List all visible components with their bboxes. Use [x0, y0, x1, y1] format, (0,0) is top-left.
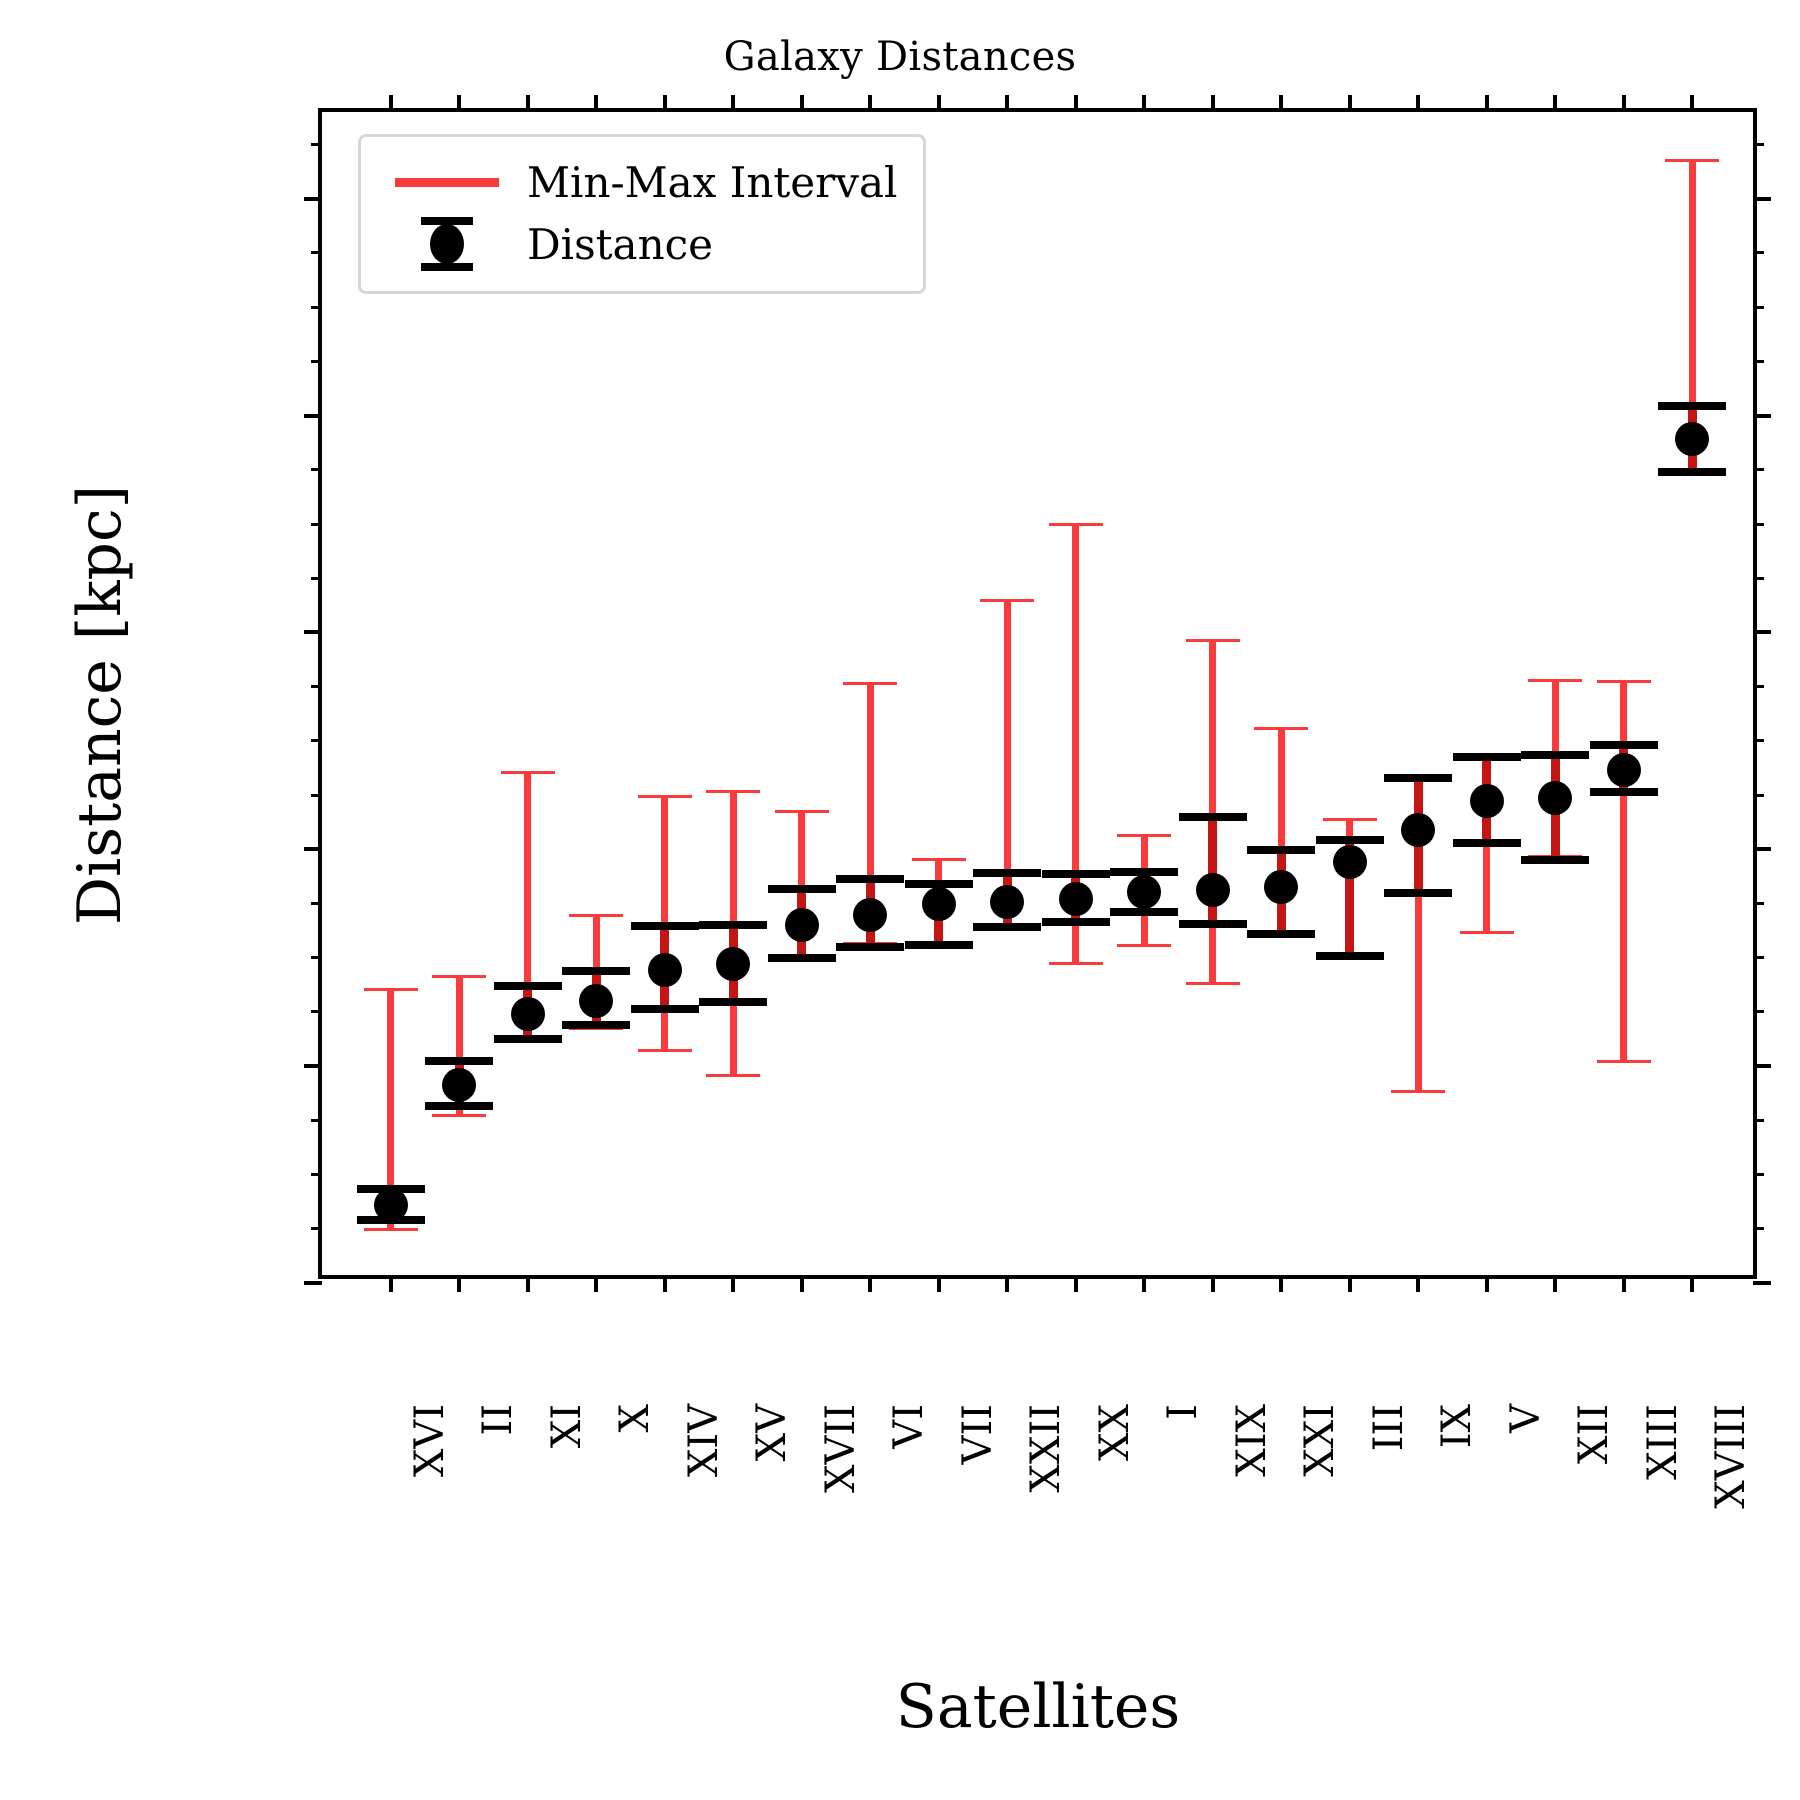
distance-errorbar-lower-cap [1316, 952, 1384, 960]
minmax-upper-cap [1254, 727, 1308, 730]
minmax-upper-cap [1665, 159, 1719, 162]
distance-errorbar-lower-cap [425, 1102, 493, 1110]
distance-errorbar-upper-cap [1179, 813, 1247, 821]
x-tick-label: IX [1434, 1404, 1480, 1448]
x-tick-label: XIX [1229, 1404, 1275, 1477]
legend-label-distance: Distance [511, 220, 713, 269]
distance-errorbar-lower-cap [1521, 856, 1589, 864]
distance-errorbar-upper-cap [768, 885, 836, 893]
distance-point [990, 885, 1024, 919]
x-tick-top [800, 95, 804, 112]
x-tick-top [389, 95, 393, 112]
y-tick [311, 902, 322, 905]
distance-errorbar-lower-cap [562, 1021, 630, 1029]
distance-errorbar-lower-cap [1247, 930, 1315, 938]
y-tick [304, 630, 322, 634]
minmax-upper-cap [1597, 680, 1651, 683]
minmax-upper-cap [501, 771, 555, 774]
minmax-line-icon [383, 151, 511, 213]
minmax-upper-cap [980, 599, 1034, 602]
x-tick-top [1005, 95, 1009, 112]
x-tick [1416, 1275, 1420, 1292]
y-tick-right [1753, 847, 1771, 851]
distance-point [442, 1068, 476, 1102]
x-tick [1622, 1275, 1626, 1292]
distance-errorbar-icon [383, 213, 511, 275]
minmax-upper-cap [569, 914, 623, 917]
y-tick-right [1753, 1173, 1764, 1176]
distance-errorbar-upper-cap [1042, 870, 1110, 878]
x-tick-top [731, 95, 735, 112]
y-tick-right [1753, 1064, 1771, 1068]
y-tick-right [1753, 1281, 1771, 1285]
distance-errorbar-upper-cap [1316, 836, 1384, 844]
x-tick-top [1142, 95, 1146, 112]
minmax-upper-cap [638, 795, 692, 798]
x-tick-label: XVIII [1708, 1404, 1754, 1509]
y-tick [311, 739, 322, 742]
x-tick [868, 1275, 872, 1292]
x-tick-label: XX [1092, 1404, 1138, 1461]
distance-point [1196, 873, 1230, 907]
y-tick-right [1753, 739, 1764, 742]
x-tick-top [868, 95, 872, 112]
plot-area: Min-Max Interval Distance 40060080010001… [318, 108, 1757, 1279]
y-tick-right [1753, 468, 1764, 471]
distance-point [1401, 813, 1435, 847]
distance-errorbar-lower-cap [905, 941, 973, 949]
y-tick-right [1753, 251, 1764, 254]
x-tick [1690, 1275, 1694, 1292]
x-tick-top [457, 95, 461, 112]
distance-point [1059, 882, 1093, 916]
distance-errorbar-lower-cap [1179, 920, 1247, 928]
x-tick-top [937, 95, 941, 112]
minmax-lower-cap [432, 1114, 486, 1117]
y-tick-right [1753, 794, 1764, 797]
y-tick [311, 1227, 322, 1230]
distance-errorbar-lower-cap [1110, 908, 1178, 916]
y-tick [304, 197, 322, 201]
x-tick-label: III [1366, 1404, 1412, 1451]
minmax-upper-cap [1528, 679, 1582, 682]
y-tick [311, 523, 322, 526]
y-tick [311, 360, 322, 363]
distance-point [579, 984, 613, 1018]
x-tick-top [1211, 95, 1215, 112]
y-tick-right [1753, 414, 1771, 418]
distance-point [374, 1188, 408, 1222]
y-tick-right [1753, 1227, 1764, 1230]
minmax-upper-cap [364, 988, 418, 991]
y-tick [311, 306, 322, 309]
minmax-lower-cap [364, 1228, 418, 1231]
x-tick-label: X [612, 1404, 658, 1432]
x-tick [1074, 1275, 1078, 1292]
x-tick [731, 1275, 735, 1292]
distance-point [1675, 422, 1709, 456]
minmax-interval-line [1620, 680, 1627, 1063]
minmax-upper-cap [775, 810, 829, 813]
x-tick-label: VI [886, 1404, 932, 1449]
y-tick [311, 1173, 322, 1176]
y-tick [304, 847, 322, 851]
page-title: Galaxy Distances [0, 34, 1800, 80]
distance-point [716, 947, 750, 981]
y-tick [311, 468, 322, 471]
y-tick-right [1753, 143, 1764, 146]
distance-errorbar-lower-cap [631, 1005, 699, 1013]
distance-point [1607, 753, 1641, 787]
x-tick-label: XXI [1297, 1404, 1343, 1477]
x-tick-label: V [1503, 1404, 1549, 1433]
distance-point [1333, 845, 1367, 879]
y-tick-right [1753, 306, 1764, 309]
x-tick [1348, 1275, 1352, 1292]
x-tick [663, 1275, 667, 1292]
chart-root: Galaxy Distances Distance [kpc] Satellit… [0, 0, 1800, 1800]
distance-errorbar-upper-cap [1247, 846, 1315, 854]
y-tick [304, 1281, 322, 1285]
distance-errorbar-upper-cap [425, 1057, 493, 1065]
x-tick-top [1279, 95, 1283, 112]
y-tick-right [1753, 956, 1764, 959]
minmax-upper-cap [1186, 639, 1240, 642]
y-tick [311, 1119, 322, 1122]
minmax-upper-cap [1323, 818, 1377, 821]
x-tick-top [1074, 95, 1078, 112]
distance-errorbar-upper-cap [631, 922, 699, 930]
distance-errorbar-lower-cap [494, 1035, 562, 1043]
x-tick [1005, 1275, 1009, 1292]
distance-errorbar-lower-cap [836, 943, 904, 951]
y-tick [311, 794, 322, 797]
x-tick-top [663, 95, 667, 112]
y-tick [311, 956, 322, 959]
distance-errorbar-lower-cap [1042, 918, 1110, 926]
x-tick-label: XIV [681, 1404, 727, 1477]
x-tick-top [526, 95, 530, 112]
minmax-upper-cap [1117, 834, 1171, 837]
x-tick [526, 1275, 530, 1292]
minmax-upper-cap [843, 682, 897, 685]
distance-errorbar-lower-cap [1384, 889, 1452, 897]
x-tick-label: VII [955, 1404, 1001, 1465]
x-tick-top [1553, 95, 1557, 112]
x-tick [594, 1275, 598, 1292]
distance-errorbar-upper-cap [836, 875, 904, 883]
legend: Min-Max Interval Distance [358, 134, 926, 294]
distance-errorbar-lower-cap [973, 923, 1041, 931]
distance-errorbar-lower-cap [768, 954, 836, 962]
distance-point [1264, 870, 1298, 904]
x-tick-label: XV [749, 1404, 795, 1461]
distance-errorbar-upper-cap [1658, 402, 1726, 410]
distance-point [1127, 875, 1161, 909]
y-axis-label: Distance [kpc] [65, 355, 135, 1055]
x-tick [800, 1275, 804, 1292]
distance-errorbar-lower-cap [699, 998, 767, 1006]
x-tick-label: XIII [1640, 1404, 1686, 1480]
x-axis-label: Satellites [318, 1672, 1758, 1742]
y-tick-right [1753, 197, 1771, 201]
minmax-lower-cap [1460, 931, 1514, 934]
legend-label-min-max: Min-Max Interval [511, 158, 897, 207]
y-tick [304, 1064, 322, 1068]
distance-point [511, 997, 545, 1031]
minmax-lower-cap [1186, 982, 1240, 985]
minmax-lower-cap [1117, 944, 1171, 947]
x-tick [457, 1275, 461, 1292]
x-tick-label: II [475, 1404, 521, 1436]
distance-errorbar-upper-cap [1521, 751, 1589, 759]
distance-errorbar-line [1208, 817, 1217, 924]
x-tick [937, 1275, 941, 1292]
x-tick [1211, 1275, 1215, 1292]
legend-item-distance: Distance [383, 213, 897, 275]
minmax-lower-cap [638, 1049, 692, 1052]
x-tick-top [1485, 95, 1489, 112]
distance-point [648, 953, 682, 987]
minmax-upper-cap [912, 858, 966, 861]
x-tick-top [1348, 95, 1352, 112]
x-tick-top [1690, 95, 1694, 112]
y-tick-right [1753, 523, 1764, 526]
legend-item-min-max-interval: Min-Max Interval [383, 151, 897, 213]
distance-errorbar-upper-cap [1384, 774, 1452, 782]
y-tick [311, 251, 322, 254]
distance-errorbar-lower-cap [1658, 468, 1726, 476]
distance-errorbar-lower-cap [1453, 839, 1521, 847]
distance-point [1538, 781, 1572, 815]
distance-point [853, 898, 887, 932]
x-tick-top [594, 95, 598, 112]
minmax-upper-cap [706, 790, 760, 793]
distance-point [785, 908, 819, 942]
distance-errorbar-upper-cap [973, 869, 1041, 877]
minmax-upper-cap [432, 975, 486, 978]
minmax-lower-cap [1391, 1090, 1445, 1093]
y-tick-right [1753, 1010, 1764, 1013]
y-tick [311, 685, 322, 688]
x-tick [1553, 1275, 1557, 1292]
x-tick-label: I [1160, 1404, 1206, 1420]
distance-errorbar-upper-cap [1590, 741, 1658, 749]
y-tick-right [1753, 577, 1764, 580]
x-tick-label: XXII [1023, 1404, 1069, 1493]
distance-errorbar-upper-cap [1453, 753, 1521, 761]
minmax-lower-cap [1597, 1060, 1651, 1063]
y-tick-right [1753, 1119, 1764, 1122]
x-tick-label: XVI [407, 1404, 453, 1477]
x-tick-top [1622, 95, 1626, 112]
x-tick-top [1416, 95, 1420, 112]
y-tick [311, 1010, 322, 1013]
y-tick [304, 414, 322, 418]
x-tick [1279, 1275, 1283, 1292]
y-tick-right [1753, 630, 1771, 634]
y-tick [311, 143, 322, 146]
y-tick-right [1753, 902, 1764, 905]
distance-errorbar-upper-cap [494, 982, 562, 990]
minmax-lower-cap [1049, 962, 1103, 965]
x-tick-label: XVII [818, 1404, 864, 1493]
distance-errorbar-lower-cap [1590, 788, 1658, 796]
y-tick-right [1753, 360, 1764, 363]
distance-errorbar-upper-cap [699, 921, 767, 929]
y-tick [311, 577, 322, 580]
y-tick-right [1753, 685, 1764, 688]
minmax-upper-cap [1049, 523, 1103, 526]
x-tick [1485, 1275, 1489, 1292]
x-tick [1142, 1275, 1146, 1292]
x-tick [389, 1275, 393, 1292]
minmax-lower-cap [706, 1074, 760, 1077]
x-tick-label: XII [1571, 1404, 1617, 1464]
distance-point [1470, 784, 1504, 818]
distance-point [922, 887, 956, 921]
x-tick-label: XI [544, 1404, 590, 1448]
distance-errorbar-upper-cap [562, 967, 630, 975]
